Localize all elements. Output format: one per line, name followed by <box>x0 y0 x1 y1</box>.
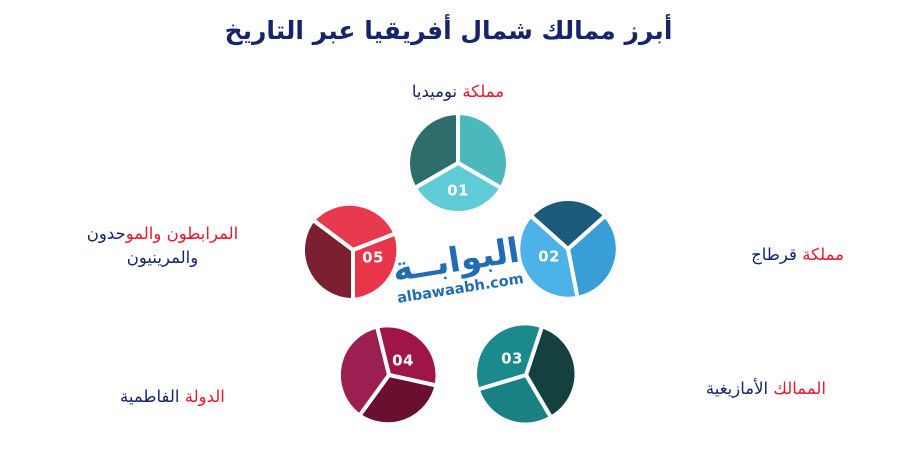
watermark-latin-text: albawaabh.com <box>392 270 529 307</box>
pie-05-svg: 05 <box>301 198 405 302</box>
pie-chart-04[interactable]: 04 <box>337 323 441 427</box>
pie-02-label-rest: قرطاج <box>751 245 797 264</box>
infographic-canvas: أبرز ممالك شمال أفريقيا عبر التاريخ 01 م… <box>0 0 897 466</box>
pie-chart-05[interactable]: 05 <box>301 198 405 302</box>
pie-05-label-highlight: المرابطون والمو <box>126 224 239 243</box>
pie-chart-03[interactable]: 03 <box>474 323 578 427</box>
pie-04-number: 04 <box>392 352 414 370</box>
pie-05-label: المرابطون والموحدون والمرينيون <box>30 222 295 270</box>
pie-03-label: الممالك الأمازيغية <box>596 377 826 401</box>
pie-01-label: مملكة نوميديا <box>318 80 598 104</box>
pie-01-label-rest: نوميديا <box>412 82 457 101</box>
pie-03-label-highlight: الممالك <box>773 379 826 398</box>
pie-04-label: الدولة الفاطمية <box>120 385 350 409</box>
pie-03-svg: 03 <box>474 323 578 427</box>
pie-05-number: 05 <box>362 249 384 267</box>
page-title: أبرز ممالك شمال أفريقيا عبر التاريخ <box>0 16 897 45</box>
watermark-arabic-text: البوابــة <box>386 233 526 288</box>
pie-04-label-highlight: الدولة <box>185 387 225 406</box>
pie-02-number: 02 <box>538 248 560 266</box>
pie-02-label-highlight: مملكة <box>802 245 844 264</box>
pie-01-label-highlight: مملكة <box>462 82 504 101</box>
pie-04-svg: 04 <box>337 323 441 427</box>
pie-03-number: 03 <box>501 350 523 368</box>
pie-05-label-line2: والمرينيون <box>30 246 295 270</box>
pie-01-number: 01 <box>447 182 469 200</box>
pie-chart-02[interactable]: 02 <box>516 197 620 301</box>
pie-chart-01[interactable]: 01 <box>406 111 510 215</box>
pie-01-svg: 01 <box>406 111 510 215</box>
pie-02-svg: 02 <box>516 197 620 301</box>
pie-05-label-line1-rest: حدون <box>87 224 126 243</box>
pie-04-label-rest: الفاطمية <box>120 387 179 406</box>
pie-02-label: مملكة قرطاج <box>634 243 844 267</box>
pie-05-label-line1: المرابطون والموحدون <box>30 222 295 246</box>
pie-03-label-rest: الأمازيغية <box>706 379 768 398</box>
